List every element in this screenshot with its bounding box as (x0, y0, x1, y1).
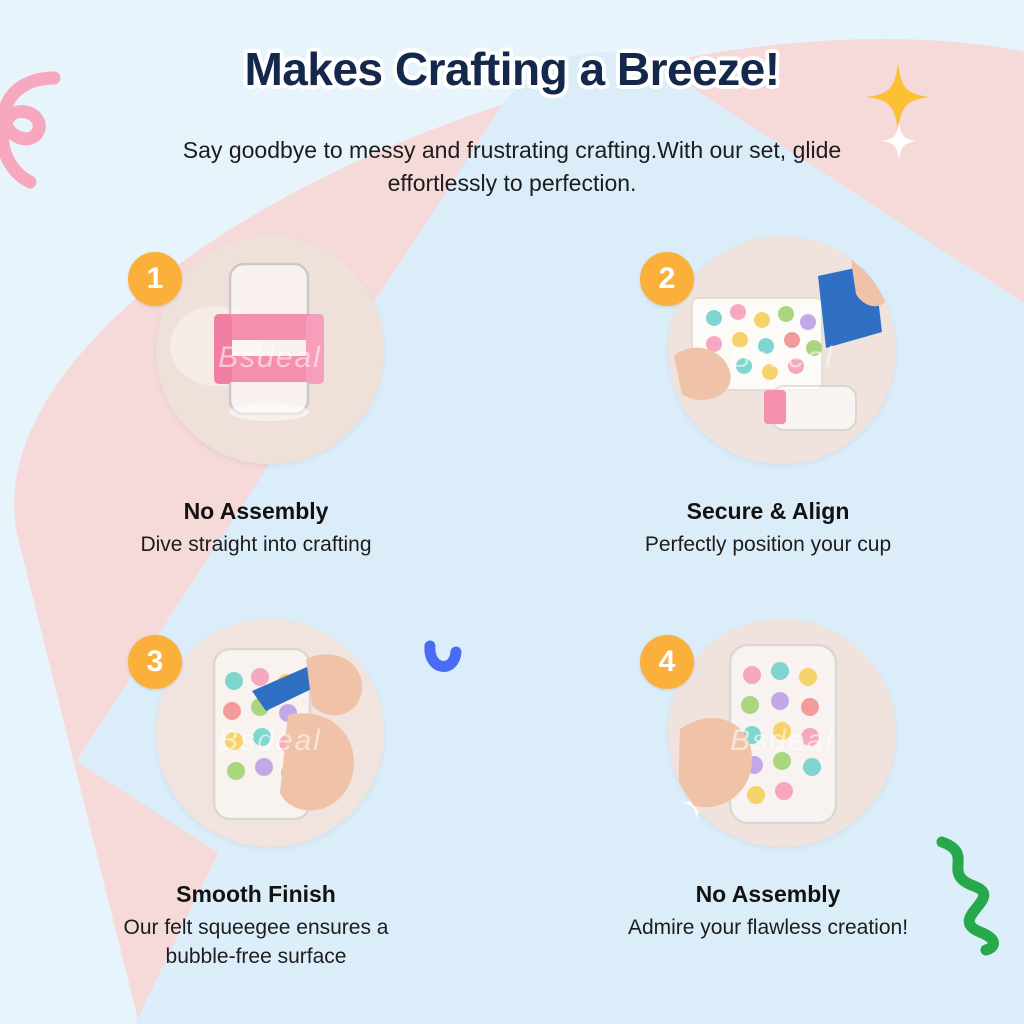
step-3-caption: Our felt squeegee ensures a bubble-free … (91, 914, 421, 971)
step-4-photo-wrap: Bsdeal 4 (640, 619, 896, 859)
step-2-photo: Bsdeal (668, 236, 896, 464)
step-4-badge: 4 (640, 635, 694, 689)
step-3-badge: 3 (128, 635, 182, 689)
steps-grid: Bsdeal 1 No Assembly Dive straight into … (0, 236, 1024, 971)
step-4-title: No Assembly (696, 881, 841, 908)
step-1-caption: Dive straight into crafting (140, 531, 371, 559)
finished-cup-illustration (668, 619, 896, 847)
smoothing-decal-illustration (156, 619, 384, 847)
step-card-4: Bsdeal 4 No Assembly Admire your flawles… (512, 619, 1024, 971)
step-2-badge: 2 (640, 252, 694, 306)
step-1-title: No Assembly (184, 498, 329, 525)
page-subtitle: Say goodbye to messy and frustrating cra… (152, 134, 872, 199)
step-card-3: Bsdeal 3 Smooth Finish Our felt squeegee… (0, 619, 512, 971)
step-1-photo: Bsdeal (156, 236, 384, 464)
step-card-1: Bsdeal 1 No Assembly Dive straight into … (0, 236, 512, 559)
step-2-caption: Perfectly position your cup (645, 531, 891, 559)
step-3-photo: Bsdeal (156, 619, 384, 847)
promo-banner: Makes Crafting a Breeze! Say goodbye to … (0, 0, 1024, 1024)
step-1-badge: 1 (128, 252, 182, 306)
step-4-caption: Admire your flawless creation! (628, 914, 908, 942)
step-2-title: Secure & Align (687, 498, 850, 525)
step-3-photo-wrap: Bsdeal 3 (128, 619, 384, 859)
step-2-photo-wrap: Bsdeal 2 (640, 236, 896, 476)
step-3-title: Smooth Finish (176, 881, 336, 908)
page-title: Makes Crafting a Breeze! (0, 42, 1024, 96)
sparkle-small-doodle (882, 122, 916, 165)
squeegee-sticker-illustration (668, 236, 896, 464)
step-card-2: Bsdeal 2 Secure & Align Perfectly positi… (512, 236, 1024, 559)
cup-in-jig-illustration (156, 236, 384, 464)
step-1-photo-wrap: Bsdeal 1 (128, 236, 384, 476)
step-4-photo: Bsdeal (668, 619, 896, 847)
